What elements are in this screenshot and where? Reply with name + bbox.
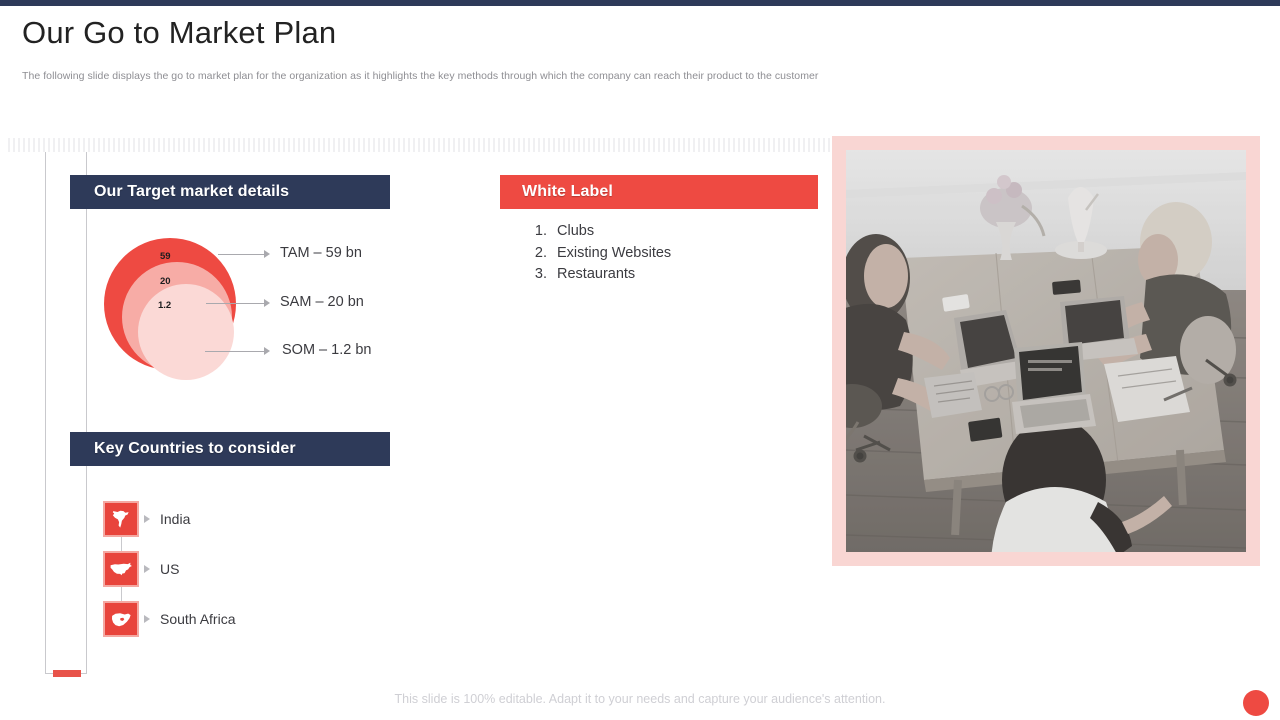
tam-value-label: 59 — [160, 251, 171, 262]
sam-label: SAM – 20 bn — [280, 294, 364, 310]
key-countries-header-bar: Key Countries to consider — [70, 432, 390, 466]
list-item: Clubs — [551, 221, 671, 243]
left-outer-rule — [45, 152, 46, 674]
tam-sam-som-chart: 59 20 1.2 — [100, 238, 250, 390]
tam-connector-arrow — [218, 249, 270, 260]
country-label: US — [160, 561, 179, 577]
country-arrow-icon — [144, 615, 150, 623]
south-africa-map-icon — [103, 601, 139, 637]
sam-value-label: 20 — [160, 276, 171, 287]
india-map-icon — [103, 501, 139, 537]
country-label: India — [160, 511, 190, 527]
left-inner-rule — [86, 152, 87, 674]
list-item: India — [103, 494, 236, 544]
white-label-header-bar: White Label — [500, 175, 818, 209]
footer-note: This slide is 100% editable. Adapt it to… — [0, 692, 1280, 706]
country-arrow-icon — [144, 565, 150, 573]
country-arrow-icon — [144, 515, 150, 523]
sam-connector-arrow — [206, 298, 270, 309]
list-item: Existing Websites — [551, 243, 671, 265]
page-title: Our Go to Market Plan — [22, 15, 336, 51]
photo-frame — [832, 136, 1260, 566]
tam-label: TAM – 59 bn — [280, 245, 362, 261]
top-accent-strip — [0, 0, 1280, 6]
key-countries-heading: Key Countries to consider — [94, 440, 296, 458]
footer-accent-dot — [1243, 690, 1269, 716]
hatch-decoration-band — [8, 138, 832, 152]
list-item: Restaurants — [551, 264, 671, 286]
list-item: South Africa — [103, 594, 236, 644]
key-countries-list: India US South Africa — [103, 494, 236, 644]
target-market-heading: Our Target market details — [94, 183, 289, 201]
som-value-label: 1.2 — [158, 300, 171, 311]
som-label: SOM – 1.2 bn — [282, 342, 371, 358]
target-market-header-bar: Our Target market details — [70, 175, 390, 209]
us-map-icon — [103, 551, 139, 587]
left-accent-bar — [53, 670, 81, 677]
page-subtitle: The following slide displays the go to m… — [22, 70, 818, 82]
som-connector-arrow — [205, 346, 270, 357]
country-label: South Africa — [160, 611, 236, 627]
meeting-photo — [846, 150, 1246, 552]
white-label-list: Clubs Existing Websites Restaurants — [527, 221, 671, 286]
list-item: US — [103, 544, 236, 594]
white-label-heading: White Label — [522, 183, 613, 201]
